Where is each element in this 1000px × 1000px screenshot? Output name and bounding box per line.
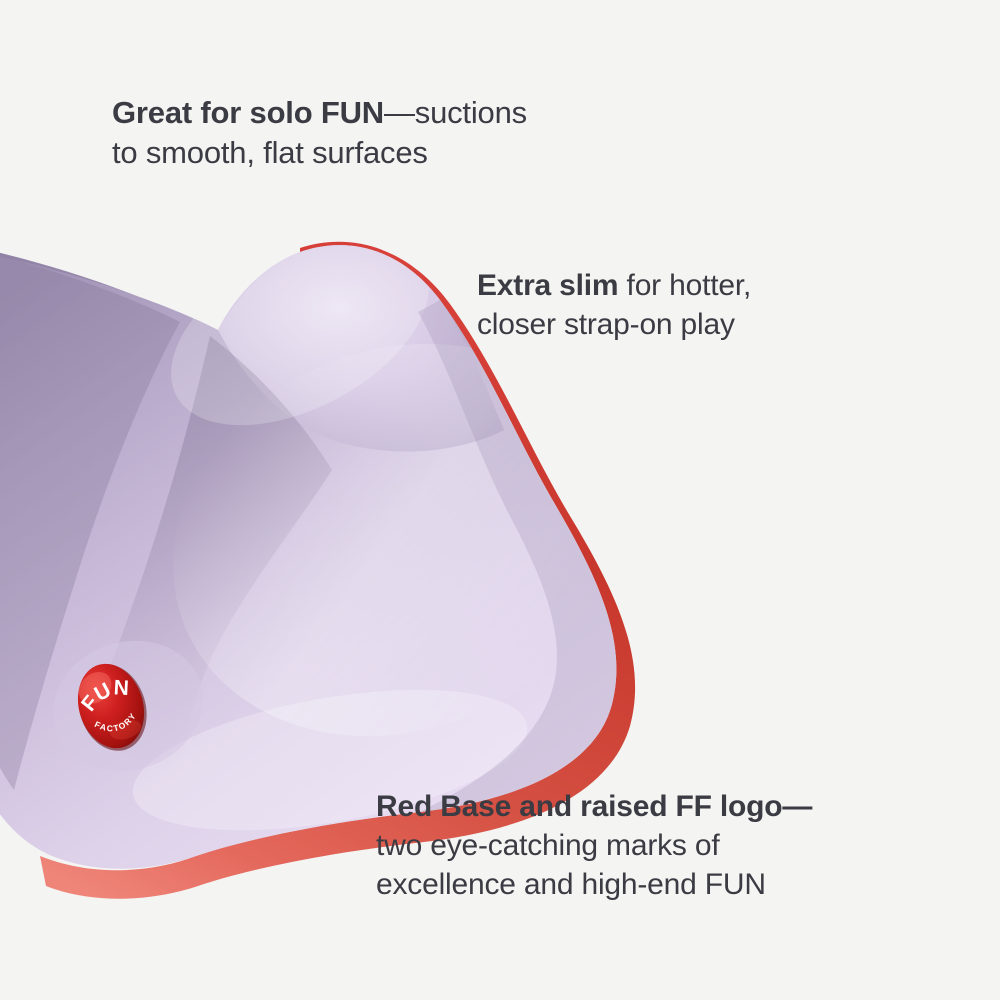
callout-base-line-1: Red Base and raised FF logo— (376, 787, 812, 826)
callout-slim-regular: for hotter, (618, 269, 751, 302)
callout-solo-line-1: Great for solo FUN—suctions (112, 93, 527, 133)
callout-base-strong: Red Base and raised FF logo (376, 790, 782, 823)
badge-fun-text: FUN (73, 671, 138, 719)
callout-extra-slim: Extra slim for hotter, closer strap-on p… (477, 266, 751, 344)
product-feature-callout-image: FUN FACTORY Great for solo FUN—suctions … (0, 0, 1000, 1000)
callout-solo-regular: —suctions (384, 95, 527, 130)
fun-factory-logo-badge: FUN FACTORY (72, 659, 150, 754)
callout-solo-fun: Great for solo FUN—suctions to smooth, f… (112, 93, 527, 174)
callout-slim-line-1: Extra slim for hotter, (477, 266, 751, 305)
badge-factory-text: FACTORY (91, 707, 141, 739)
callout-base-dash: — (782, 790, 812, 823)
callout-red-base: Red Base and raised FF logo— two eye-cat… (376, 787, 812, 904)
callout-solo-line-2: to smooth, flat surfaces (112, 133, 527, 173)
callout-base-line-3: excellence and high-end FUN (376, 865, 812, 904)
callout-solo-strong: Great for solo FUN (112, 95, 384, 130)
callout-slim-line-2: closer strap-on play (477, 305, 751, 344)
callout-base-line-2: two eye-catching marks of (376, 826, 812, 865)
callout-slim-strong: Extra slim (477, 269, 618, 302)
